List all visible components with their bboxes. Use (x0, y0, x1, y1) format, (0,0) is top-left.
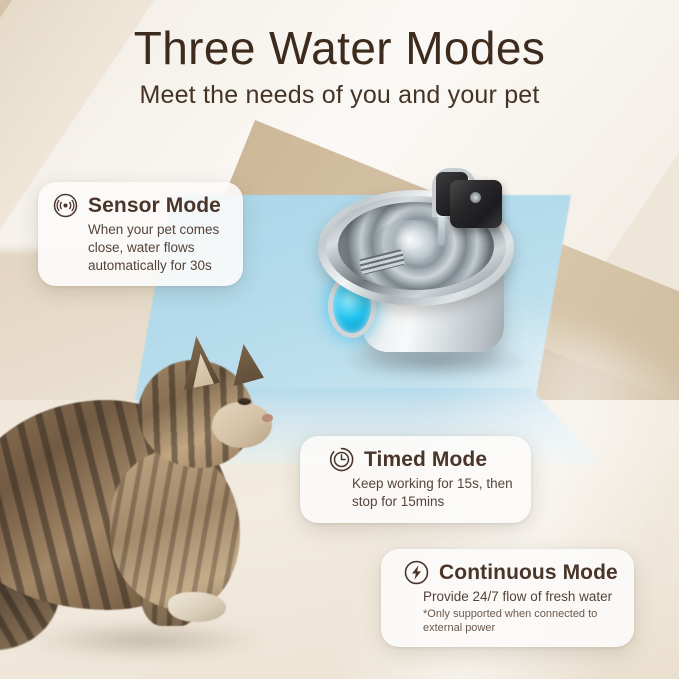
page-subtitle: Meet the needs of you and your pet (0, 81, 679, 110)
card-desc-sensor: When your pet comes close, water flows a… (52, 221, 227, 274)
page-title: Three Water Modes (0, 22, 679, 75)
cat-muzzle (212, 402, 272, 448)
card-title-sensor: Sensor Mode (88, 194, 221, 218)
card-header-continuous: Continuous Mode (395, 559, 618, 586)
cat-shadow (30, 622, 260, 658)
control-module (450, 180, 502, 228)
mode-card-continuous[interactable]: Continuous Mode Provide 24/7 flow of fre… (381, 549, 634, 647)
header-block: Three Water Modes Meet the needs of you … (0, 22, 679, 110)
cat-paw (168, 592, 226, 622)
cat-eye (238, 398, 251, 405)
lightning-bolt-icon (403, 559, 430, 586)
control-module-button (470, 192, 481, 203)
card-title-timed: Timed Mode (364, 448, 487, 472)
card-note-continuous: *Only supported when connected to extern… (395, 607, 618, 635)
sensor-wave-icon (52, 192, 79, 219)
product-feature-image: Three Water Modes Meet the needs of you … (0, 0, 679, 679)
mode-card-sensor[interactable]: Sensor Mode When your pet comes close, w… (38, 182, 243, 286)
card-title-continuous: Continuous Mode (439, 561, 618, 585)
cat-ear-back (230, 344, 264, 386)
card-header-timed: Timed Mode (314, 446, 515, 473)
cat-chest (110, 450, 240, 610)
mode-card-timed[interactable]: Timed Mode Keep working for 15s, then st… (300, 436, 531, 523)
cat-photo (0, 330, 290, 679)
card-desc-timed: Keep working for 15s, then stop for 15mi… (314, 475, 515, 511)
water-fountain-product (310, 168, 530, 378)
card-header-sensor: Sensor Mode (52, 192, 227, 219)
card-desc-continuous: Provide 24/7 flow of fresh water (395, 588, 618, 606)
clock-icon (328, 446, 355, 473)
